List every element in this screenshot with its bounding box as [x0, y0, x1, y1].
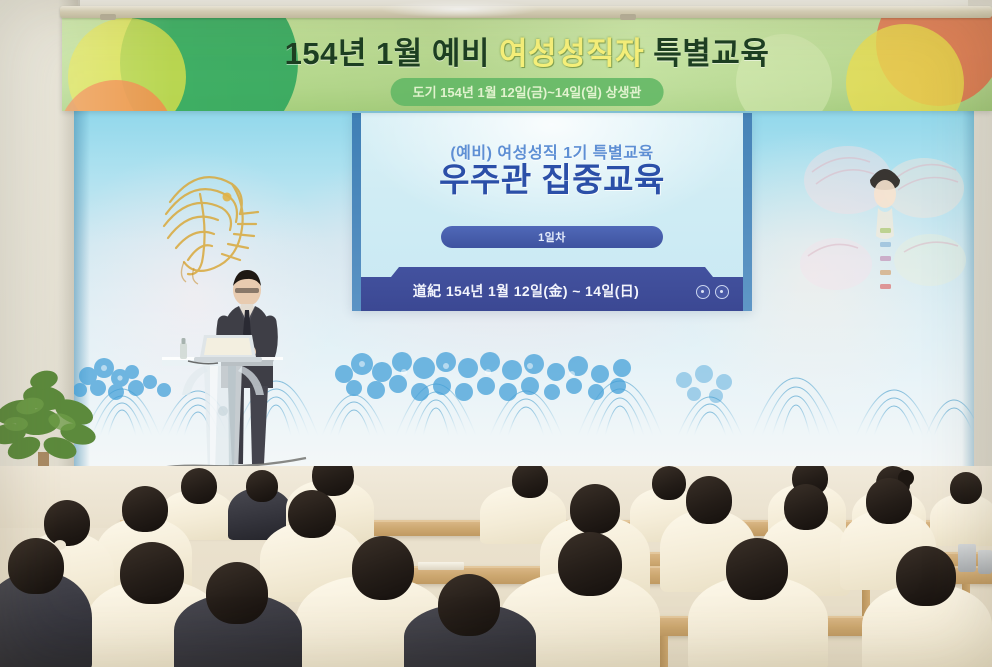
slide-kicker-text: (예비) 여성성직 1기 특별교육	[352, 139, 752, 163]
attendee-head	[206, 562, 268, 624]
secondary-logo-icon	[715, 285, 729, 299]
banner-title-part1: 154년 1월 예비	[285, 36, 499, 71]
event-banner: 154년 1월 예비 여성성직자 특별교육 도기 154년 1월 12일(금)~…	[62, 16, 992, 111]
audience-seating-area	[0, 466, 992, 667]
attendee-head	[181, 468, 217, 504]
slide-headline: 우주관 집중교육	[352, 163, 752, 198]
banner-subtitle-pill: 도기 154년 1월 12일(금)~14일(일) 상생관	[391, 78, 664, 106]
attendee-head	[652, 466, 686, 500]
banner-rod-highlight	[380, 0, 540, 18]
attendee-head	[950, 472, 982, 504]
attendee-head	[866, 478, 912, 524]
attendee-head	[558, 532, 622, 596]
slide-day-pill: 1일차	[441, 226, 663, 248]
desk-cup	[978, 550, 992, 574]
attendee-head	[44, 500, 90, 546]
slide-footer-bar: 道紀 154년 1월 12일(金) ~ 14일(日)	[361, 267, 743, 311]
organization-logo-icon	[696, 285, 710, 299]
attendee-head	[784, 484, 828, 530]
attendee-head	[896, 546, 956, 606]
attendee-head	[246, 470, 278, 502]
projection-slide: (예비) 여성성직 1기 특별교육 우주관 집중교육 1일차 道紀 154년 1…	[352, 113, 752, 311]
attendee-head	[726, 538, 788, 600]
desk-leg	[660, 636, 668, 667]
attendee-head	[512, 466, 548, 498]
lecture-hall-photo: (예비) 여성성직 1기 특별교육 우주관 집중교육 1일차 道紀 154년 1…	[0, 0, 992, 667]
attendee-head	[686, 476, 732, 524]
attendee-head	[570, 484, 620, 534]
banner-title-highlight: 여성성직자	[499, 36, 644, 71]
pastel-figure-illustration	[800, 132, 970, 322]
banner-clip-left	[100, 14, 116, 20]
slide-logo-group	[696, 285, 729, 299]
attendee-head	[352, 536, 414, 600]
attendee-head	[288, 490, 336, 538]
slide-date-text: 道紀 154년 1월 12일(金) ~ 14일(日)	[361, 281, 743, 301]
attendee-head	[438, 574, 500, 636]
laptop-on-podium	[194, 335, 262, 362]
desk-cup	[958, 544, 976, 572]
attendee-head	[120, 542, 184, 604]
banner-clip-right	[620, 14, 636, 20]
attendee-head	[8, 538, 64, 594]
attendee-head	[122, 486, 168, 532]
desk-book	[418, 562, 464, 570]
banner-title-part2: 특별교육	[644, 36, 769, 71]
banner-title: 154년 1월 예비 여성성직자 특별교육	[62, 38, 992, 69]
